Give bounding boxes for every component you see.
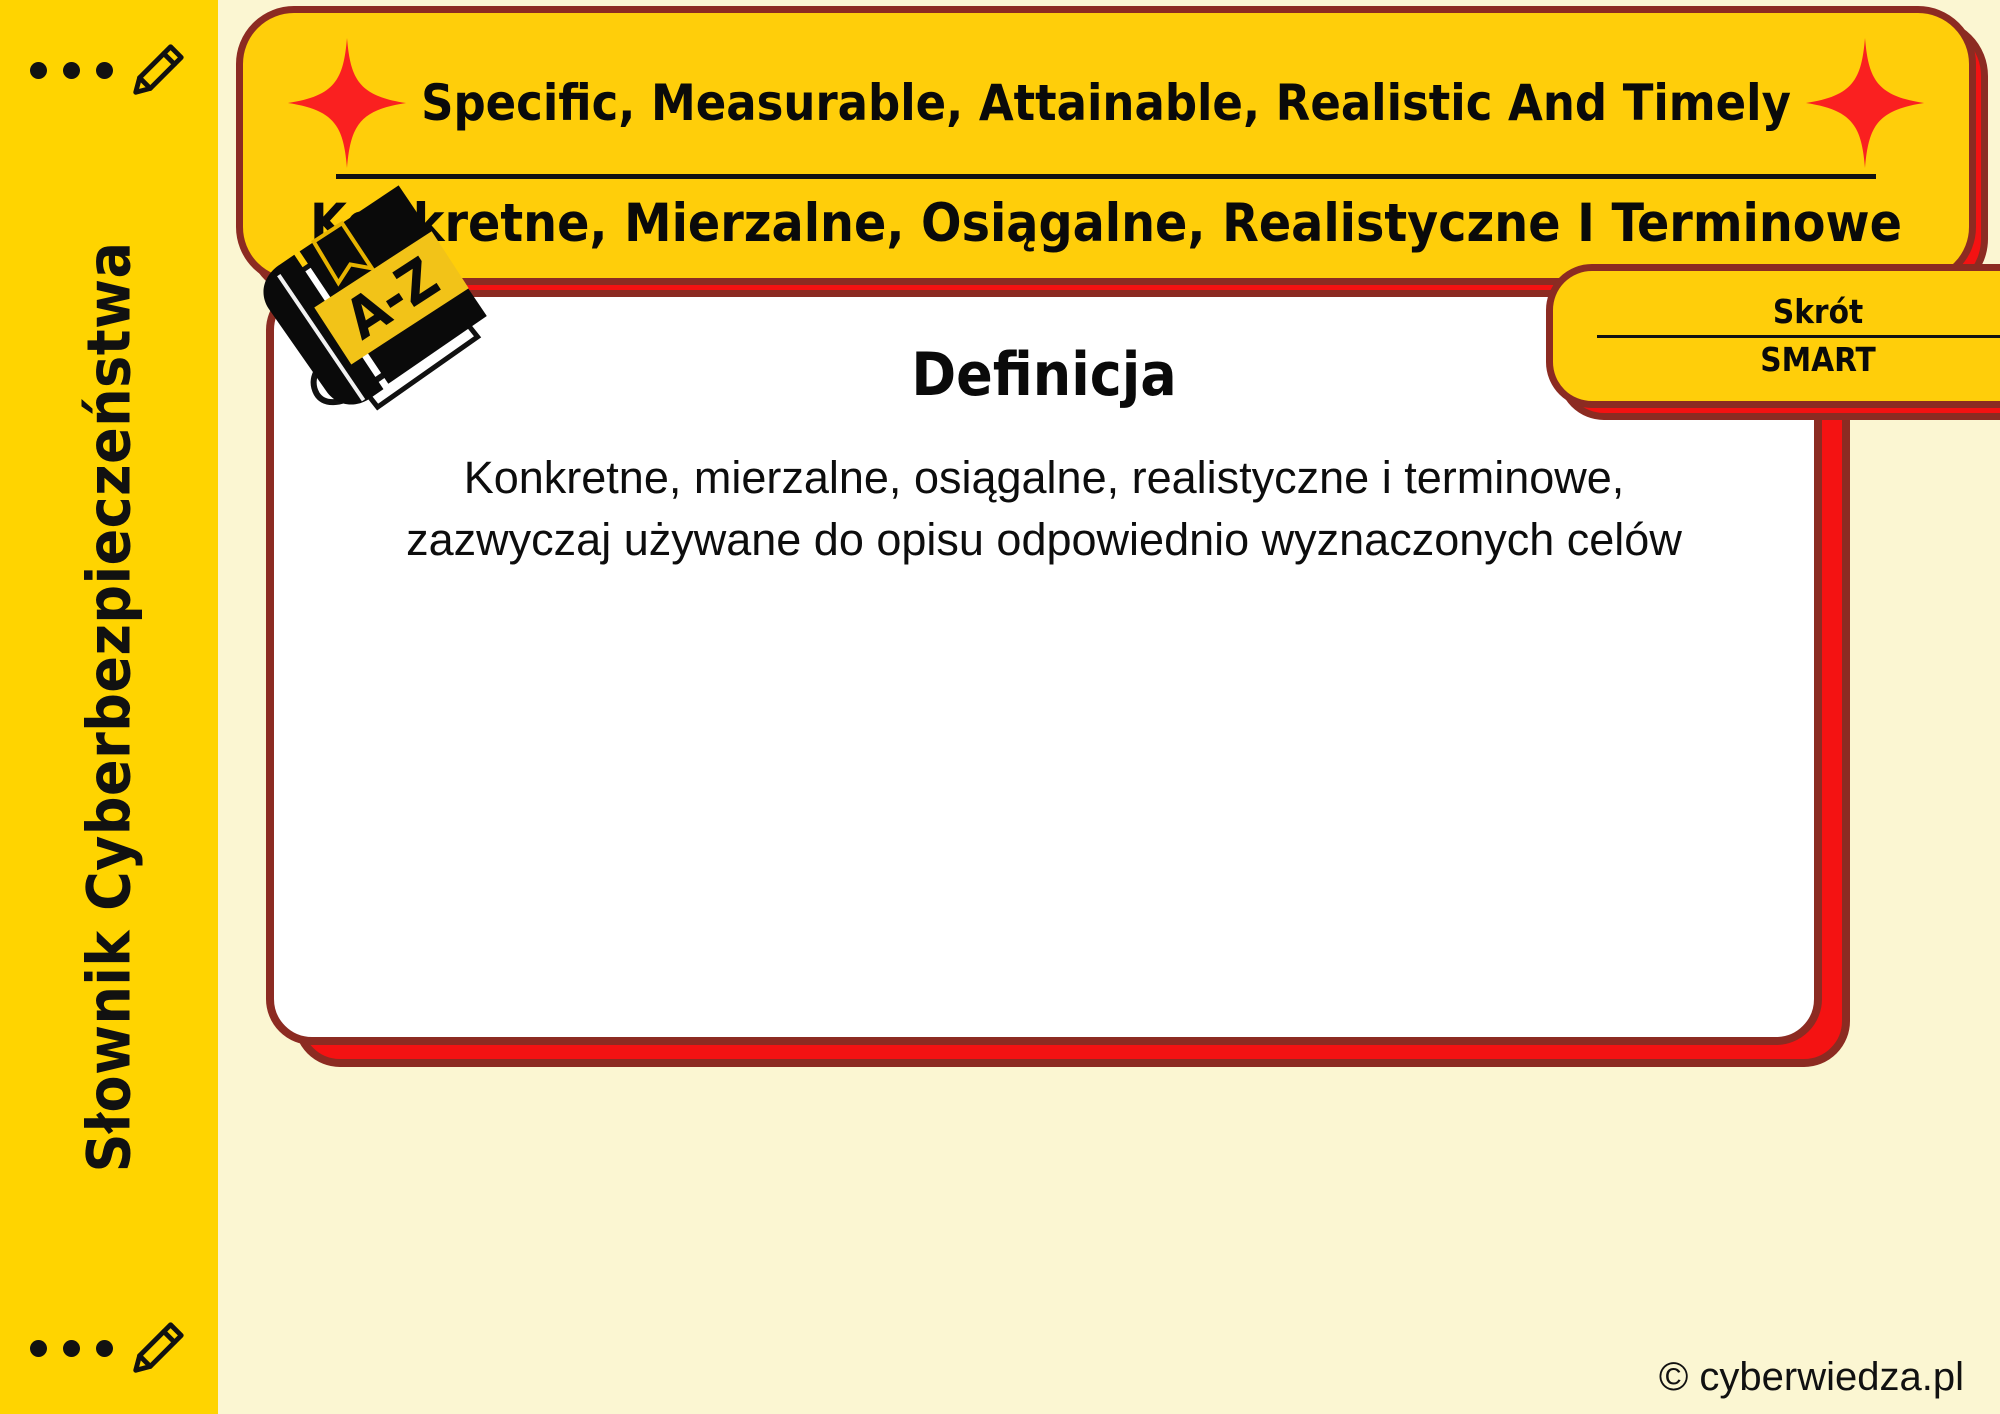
ellipsis-dots-bottom	[30, 1340, 113, 1357]
dot-icon	[96, 1340, 113, 1357]
four-point-star-icon	[1805, 38, 1925, 168]
definition-text: Konkretne, mierzalne, osiągalne, realist…	[384, 447, 1704, 571]
abbreviation-value: SMART	[1760, 343, 1876, 378]
header-card: Specific, Measurable, Attainable, Realis…	[236, 6, 1976, 285]
four-point-star-icon	[287, 38, 407, 168]
dot-icon	[30, 1340, 47, 1357]
header-title-row: Specific, Measurable, Attainable, Realis…	[243, 38, 1969, 168]
copyright-footer: © cyberwiedza.pl	[1659, 1355, 1964, 1400]
abbreviation-label: Skrót	[1773, 295, 1863, 330]
dot-icon	[63, 1340, 80, 1357]
header-title-polish: Konkretne, Mierzalne, Osiągalne, Realist…	[310, 193, 1902, 254]
sidebar-title-wrapper: Słownik Cyberbezpieczeństwa	[0, 0, 218, 1414]
pencil-icon	[127, 1317, 189, 1379]
sidebar-decoration-bottom	[0, 1288, 218, 1408]
abbreviation-divider	[1597, 335, 2000, 338]
content-stage: Specific, Measurable, Attainable, Realis…	[218, 0, 2000, 1414]
header-divider	[336, 174, 1876, 179]
abbreviation-badge: Skrót SMART	[1546, 264, 2000, 408]
sidebar: Słownik Cyberbezpieczeństwa	[0, 0, 218, 1414]
sidebar-title: Słownik Cyberbezpieczeństwa	[74, 242, 144, 1173]
header-title-english: Specific, Measurable, Attainable, Realis…	[421, 74, 1791, 132]
